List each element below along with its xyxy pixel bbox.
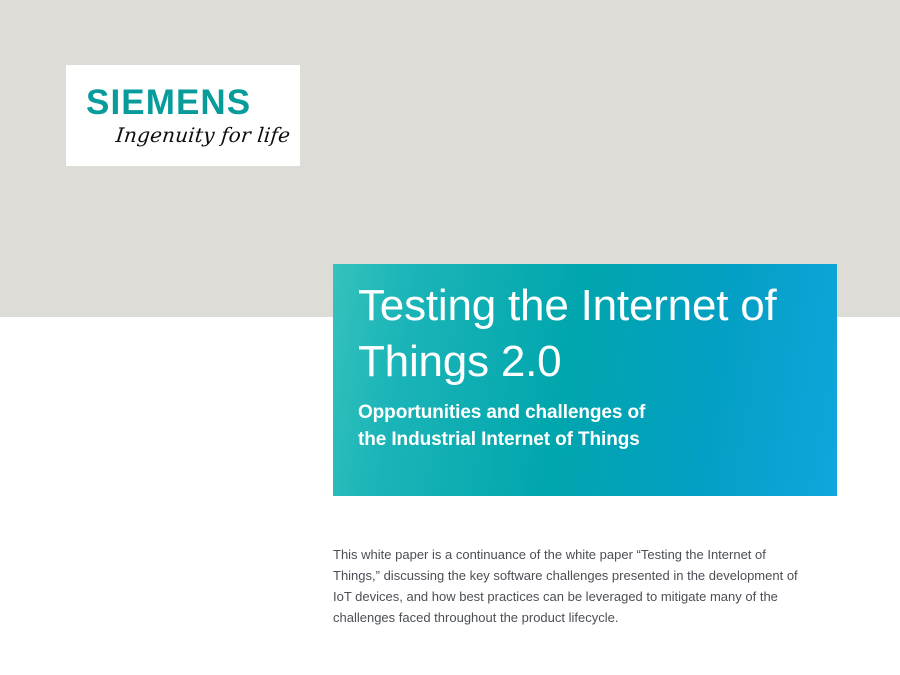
abstract-line: Things,” discussing the key software cha… (333, 565, 838, 586)
title-gradient-panel: Testing the Internet of Things 2.0 Oppor… (333, 264, 837, 496)
page-title: Testing the Internet of Things 2.0 (358, 278, 818, 391)
siemens-tagline: Ingenuity for life (115, 125, 291, 145)
page-subtitle-line: Opportunities and challenges of (358, 400, 818, 427)
page-subtitle: Opportunities and challenges of the Indu… (358, 400, 818, 454)
siemens-logo-plate: SIEMENS Ingenuity for life (66, 65, 300, 166)
abstract-line: challenges faced throughout the product … (333, 607, 838, 628)
abstract-line: This white paper is a continuance of the… (333, 544, 838, 565)
page-subtitle-line: the Industrial Internet of Things (358, 427, 818, 454)
siemens-wordmark: SIEMENS (86, 85, 251, 120)
cover-page: SIEMENS Ingenuity for life Testing the I… (0, 0, 900, 675)
abstract-paragraph: This white paper is a continuance of the… (333, 544, 838, 628)
abstract-line: IoT devices, and how best practices can … (333, 586, 838, 607)
